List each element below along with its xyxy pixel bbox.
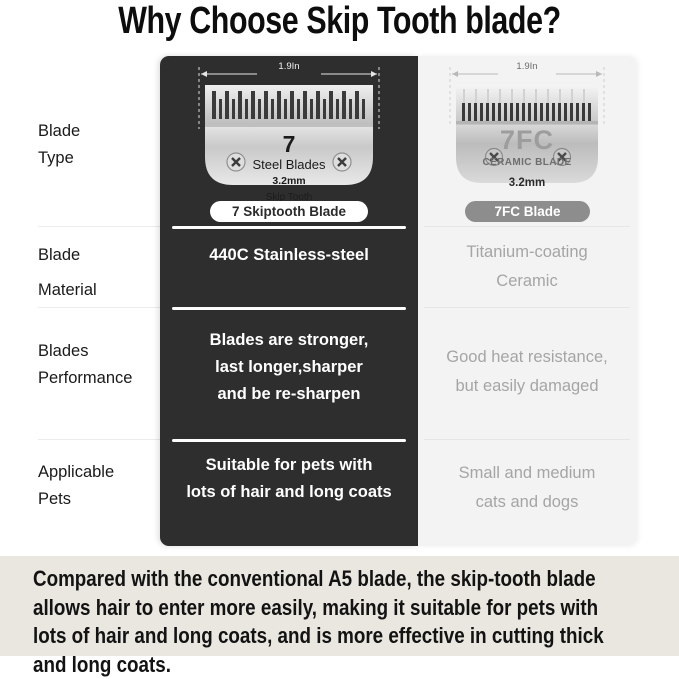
cell-right-blade-material: Titanium-coating Ceramic — [422, 238, 632, 296]
comparison-board: Blade Type Blade Material Blades Perform… — [0, 56, 679, 548]
row-label-line2: Type — [38, 145, 160, 172]
row-divider — [38, 307, 160, 308]
cell-left-blades-performance: Blades are stronger, last longer,sharper… — [172, 327, 406, 408]
row-label-blade-material: Blade Material — [38, 238, 160, 308]
perf-line1: Good heat resistance, — [418, 343, 636, 372]
panel-divider — [424, 307, 630, 308]
blade-material-stamp: Steel Blades — [179, 157, 399, 172]
cell-right-applicable-pets: Small and medium cats and dogs — [422, 459, 632, 517]
panel-divider — [172, 439, 406, 442]
blade-material-stamp: CERAMIC BLADE — [432, 157, 622, 168]
row-label-line2: Material — [38, 273, 160, 308]
row-divider — [38, 226, 160, 227]
material-line2: Ceramic — [422, 267, 632, 296]
row-label-blade-type: Blade Type — [38, 118, 160, 172]
cell-left-applicable-pets: Suitable for pets with lots of hair and … — [166, 452, 412, 506]
panel-divider — [424, 226, 630, 227]
pets-line2: lots of hair and long coats — [166, 479, 412, 506]
skiptooth-blade-image: 1.9In — [179, 61, 399, 201]
row-label-line1: Blades — [38, 338, 160, 365]
blade-thickness-stamp: 3.2mm — [432, 177, 622, 189]
row-label-applicable-pets: Applicable Pets — [38, 459, 160, 513]
blade-dimension-label: 1.9In — [179, 61, 399, 72]
fc-blade-image: 1.9In — [432, 61, 622, 201]
blade-dimension-label: 1.9In — [432, 61, 622, 72]
perf-line3: and be re-sharpen — [172, 381, 406, 408]
row-label-line1: Blade — [38, 238, 160, 273]
page-title: Why Choose Skip Tooth blade? — [68, 0, 611, 44]
blade-thickness-stamp: 3.2mm — [179, 175, 399, 187]
badge-fc-blade: 7FC Blade — [465, 201, 590, 222]
pets-line1: Suitable for pets with — [166, 452, 412, 479]
cell-left-blade-material: 440C Stainless-steel — [172, 242, 406, 269]
row-label-line1: Applicable — [38, 459, 160, 486]
perf-line2: last longer,sharper — [172, 354, 406, 381]
panel-divider — [424, 439, 630, 440]
row-label-line2: Pets — [38, 486, 160, 513]
perf-line1: Blades are stronger, — [172, 327, 406, 354]
row-label-blades-performance: Blades Performance — [38, 338, 160, 392]
blade-number: 7FC — [432, 125, 622, 156]
panel-divider — [172, 307, 406, 310]
pets-line2: cats and dogs — [422, 488, 632, 517]
perf-line2: but easily damaged — [418, 372, 636, 401]
row-label-column: Blade Type Blade Material Blades Perform… — [0, 56, 160, 548]
panel-divider — [172, 226, 406, 229]
material-line1: Titanium-coating — [422, 238, 632, 267]
badge-skiptooth-blade: 7 Skiptooth Blade — [210, 201, 368, 222]
cell-right-blades-performance: Good heat resistance, but easily damaged — [418, 343, 636, 401]
skip-tooth-column-panel: 1.9In — [160, 56, 418, 546]
pets-line1: Small and medium — [422, 459, 632, 488]
fc-blade-column-panel: 1.9In — [418, 56, 636, 546]
row-label-line1: Blade — [38, 118, 160, 145]
bottom-caption-band: Compared with the conventional A5 blade,… — [0, 556, 679, 656]
row-divider — [38, 439, 160, 440]
row-label-line2: Performance — [38, 365, 160, 392]
blade-number: 7 — [179, 131, 399, 158]
caption-text: Compared with the conventional A5 blade,… — [33, 565, 632, 679]
